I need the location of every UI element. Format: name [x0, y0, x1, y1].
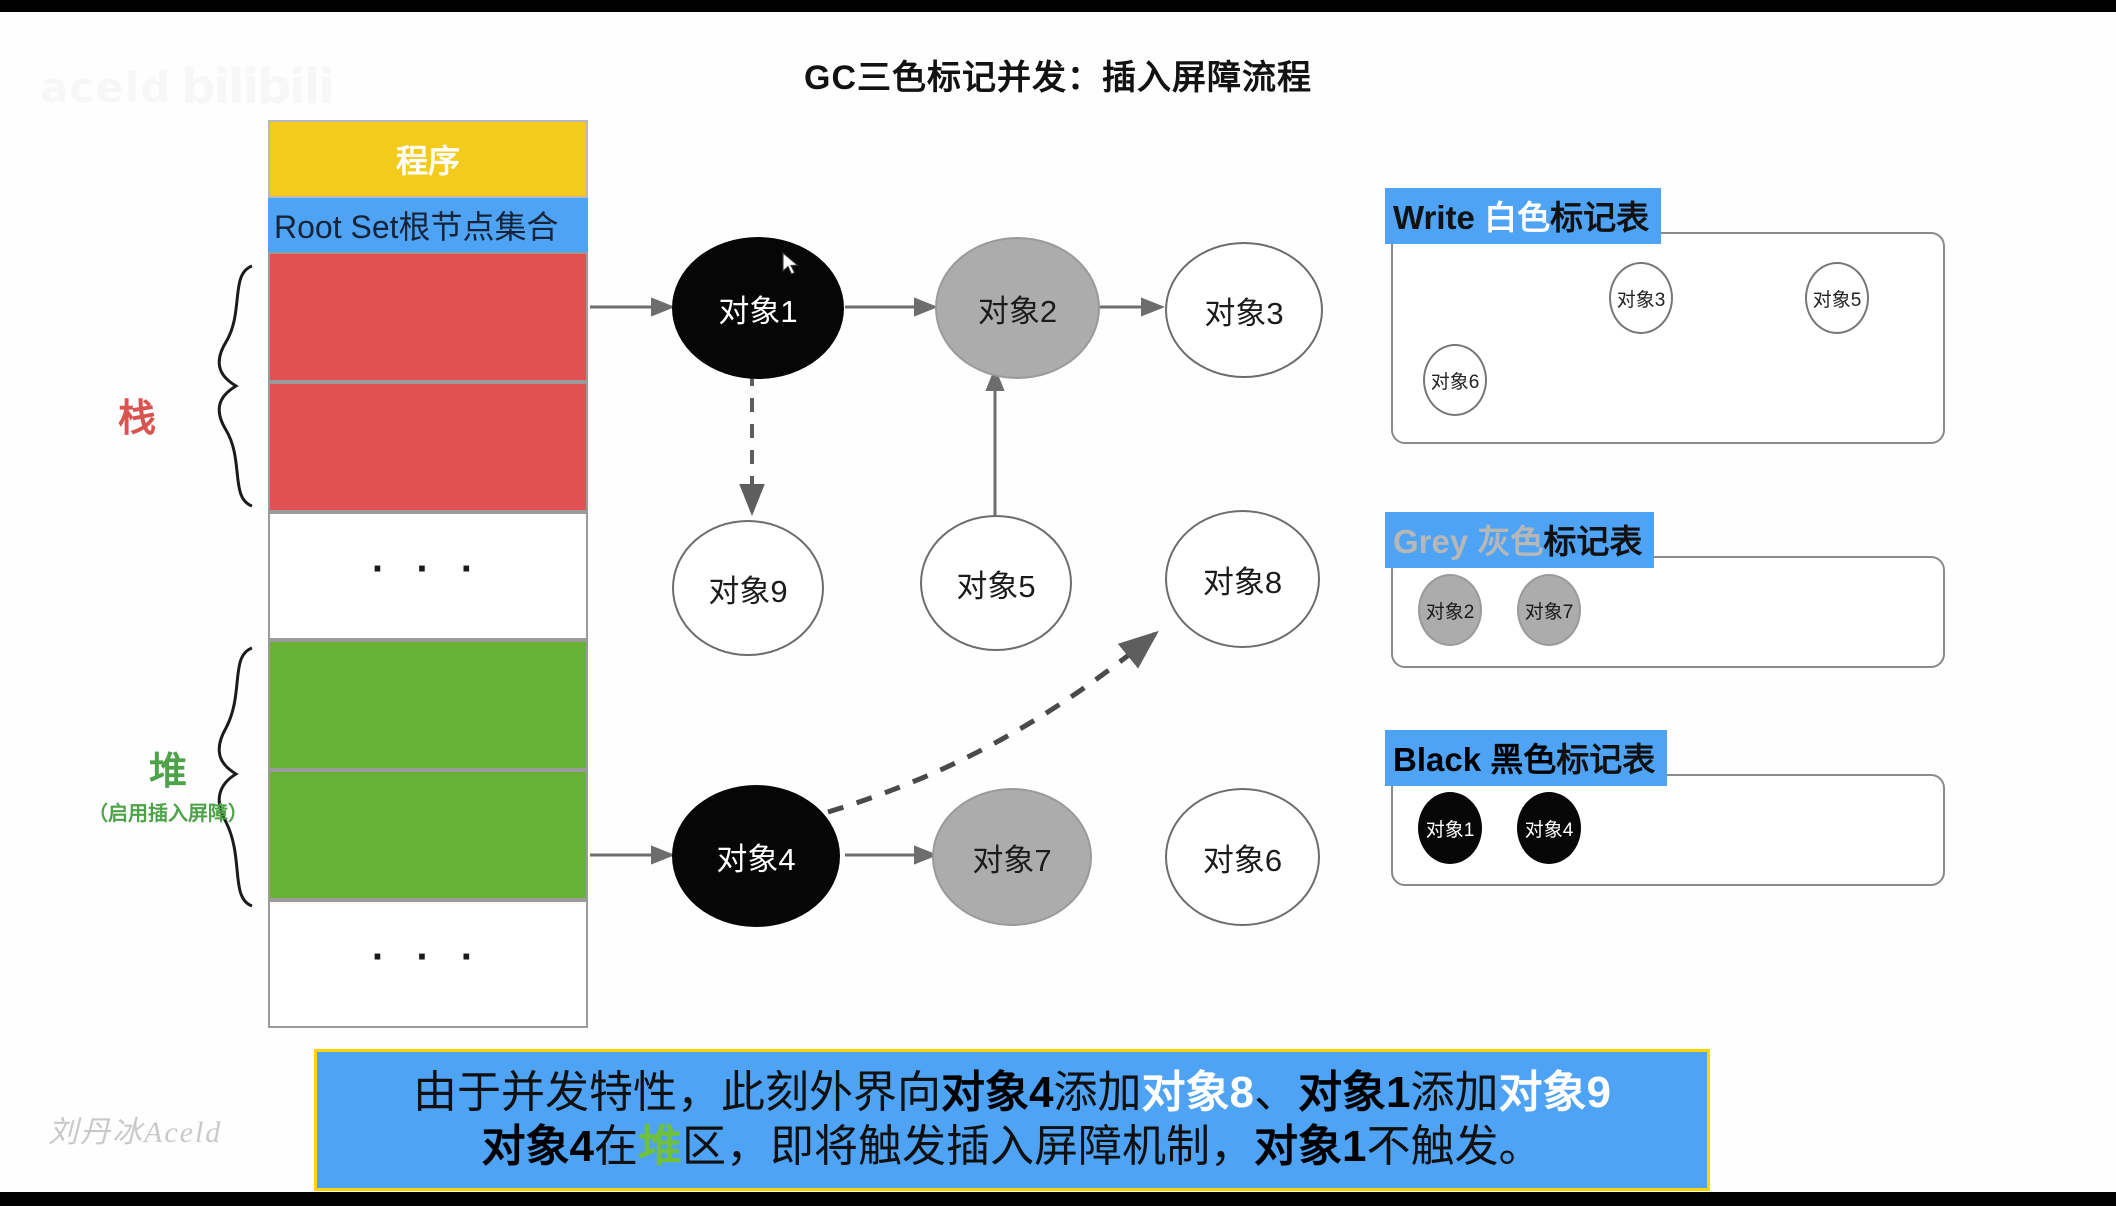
slide-canvas: aceld bilibili 刘丹冰Aceld GC三色标记并发：插入屏障流程 …	[0, 12, 2116, 1192]
graph-node-obj6-label: 对象6	[1203, 835, 1282, 880]
caption-l2-heap: 堆	[638, 1122, 682, 1171]
white-mark-table-box: 对象3 对象5 对象6	[1391, 232, 1945, 444]
caption-l1-a: 由于并发特性，此刻外界向	[413, 1068, 941, 1117]
caption-line-2: 对象4在堆区，即将触发插入屏障机制，对象1不触发。	[482, 1120, 1543, 1174]
caption-l2-obj4: 对象4	[482, 1122, 594, 1171]
graph-node-obj5-label: 对象5	[956, 561, 1035, 606]
graph-node-obj5[interactable]: 对象5	[920, 515, 1072, 651]
heap-label-sub: （启用插入屏障）	[68, 797, 268, 826]
caption-l2-f: 不触发。	[1366, 1122, 1542, 1171]
memory-block-stack-slot-2	[268, 382, 588, 512]
memory-block-heap-slot-1	[268, 640, 588, 770]
white-chip-obj5-label: 对象5	[1813, 285, 1862, 312]
mouse-cursor-icon	[782, 252, 802, 278]
page-title: GC三色标记并发：插入屏障流程	[0, 50, 2116, 99]
stack-brace	[219, 266, 252, 506]
grey-mark-table-header: Grey 灰色标记表	[1385, 512, 1654, 568]
black-header-en: Black	[1393, 741, 1490, 778]
black-mark-table-box: 对象1 对象4	[1391, 774, 1945, 886]
heap-label-main: 堆	[149, 751, 187, 793]
caption-line-1: 由于并发特性，此刻外界向对象4添加对象8、对象1添加对象9	[413, 1066, 1611, 1120]
caption-l1-c: 添加	[1054, 1068, 1142, 1117]
black-chip-obj4-label: 对象4	[1525, 815, 1574, 842]
caption-l1-obj8: 对象8	[1142, 1068, 1254, 1117]
caption-l2-obj1: 对象1	[1254, 1122, 1366, 1171]
white-header-suffix: 标记表	[1550, 199, 1649, 236]
stack-ellipsis-label: · · ·	[372, 547, 484, 592]
white-chip-obj6[interactable]: 对象6	[1423, 344, 1487, 416]
heap-label: 堆 （启用插入屏障）	[108, 740, 228, 826]
graph-node-obj4-label: 对象4	[716, 834, 795, 879]
graph-node-obj2[interactable]: 对象2	[935, 237, 1100, 379]
white-chip-obj3-label: 对象3	[1617, 285, 1666, 312]
white-chip-obj5[interactable]: 对象5	[1805, 262, 1869, 334]
white-chip-obj3[interactable]: 对象3	[1609, 262, 1673, 334]
black-chip-obj4[interactable]: 对象4	[1517, 792, 1581, 864]
memory-block-heap-ellipsis: · · ·	[268, 900, 588, 1028]
graph-node-obj8[interactable]: 对象8	[1165, 510, 1320, 648]
graph-node-obj3[interactable]: 对象3	[1165, 242, 1323, 378]
caption-l1-obj9: 对象9	[1498, 1068, 1610, 1117]
black-header-suffix: 标记表	[1556, 741, 1655, 778]
graph-node-obj6[interactable]: 对象6	[1165, 788, 1320, 926]
caption-l1-g: 添加	[1410, 1068, 1498, 1117]
graph-node-obj2-label: 对象2	[978, 286, 1057, 331]
graph-node-obj1[interactable]: 对象1	[672, 237, 844, 379]
caption-banner: 由于并发特性，此刻外界向对象4添加对象8、对象1添加对象9 对象4在堆区，即将触…	[314, 1049, 1710, 1191]
graph-node-obj3-label: 对象3	[1204, 288, 1283, 333]
graph-node-obj9-label: 对象9	[708, 566, 787, 611]
root-set-label: Root Set根节点集合	[274, 202, 559, 248]
white-chip-obj6-label: 对象6	[1431, 367, 1480, 394]
graph-node-obj9[interactable]: 对象9	[672, 520, 824, 656]
graph-node-obj7[interactable]: 对象7	[932, 788, 1092, 926]
grey-mark-table-box: 对象2 对象7	[1391, 556, 1945, 668]
white-mark-table-header: Write 白色标记表	[1385, 188, 1661, 244]
grey-chip-obj7-label: 对象7	[1525, 597, 1574, 624]
stack-label: 栈	[118, 387, 156, 442]
grey-header-en: Grey	[1393, 523, 1477, 560]
grey-header-colorword: 灰色	[1477, 523, 1543, 560]
memory-block-stack-ellipsis: · · ·	[268, 512, 588, 640]
white-header-colorword: 白色	[1484, 199, 1550, 236]
memory-block-heap-slot-2	[268, 770, 588, 900]
black-mark-table: Black 黑色标记表 对象1 对象4	[1385, 730, 1945, 905]
graph-node-obj8-label: 对象8	[1203, 557, 1282, 602]
memory-block-root-set: Root Set根节点集合	[268, 198, 588, 252]
grey-mark-table: Grey 灰色标记表 对象2 对象7	[1385, 512, 1945, 677]
memory-column: 程序 Root Set根节点集合 · · · · · ·	[268, 120, 588, 1028]
white-mark-table: Write 白色标记表 对象3 对象5 对象6	[1385, 188, 1945, 448]
grey-chip-obj7[interactable]: 对象7	[1517, 574, 1581, 646]
black-chip-obj1-label: 对象1	[1426, 815, 1475, 842]
grey-chip-obj2-label: 对象2	[1426, 597, 1475, 624]
grey-header-suffix: 标记表	[1543, 523, 1642, 560]
edge-obj4-obj8-dashed	[828, 634, 1155, 812]
video-frame: aceld bilibili 刘丹冰Aceld GC三色标记并发：插入屏障流程 …	[0, 0, 2116, 1206]
caption-l1-obj1: 对象1	[1298, 1068, 1410, 1117]
white-header-en: Write	[1393, 199, 1484, 236]
caption-l1-e: 、	[1254, 1068, 1298, 1117]
graph-node-obj4[interactable]: 对象4	[672, 785, 840, 927]
memory-block-program: 程序	[268, 120, 588, 198]
heap-ellipsis-label: · · ·	[372, 935, 484, 980]
grey-chip-obj2[interactable]: 对象2	[1418, 574, 1482, 646]
black-header-colorword: 黑色	[1490, 741, 1556, 778]
graph-node-obj7-label: 对象7	[972, 835, 1051, 880]
memory-block-stack-slot-1	[268, 252, 588, 382]
black-mark-table-header: Black 黑色标记表	[1385, 730, 1667, 786]
black-chip-obj1[interactable]: 对象1	[1418, 792, 1482, 864]
caption-l2-d: 区，即将触发插入屏障机制，	[682, 1122, 1254, 1171]
program-label: 程序	[396, 136, 460, 182]
author-watermark: 刘丹冰Aceld	[48, 1107, 222, 1151]
graph-node-obj1-label: 对象1	[718, 286, 797, 331]
caption-l2-b: 在	[594, 1122, 638, 1171]
caption-l1-obj4: 对象4	[941, 1068, 1053, 1117]
